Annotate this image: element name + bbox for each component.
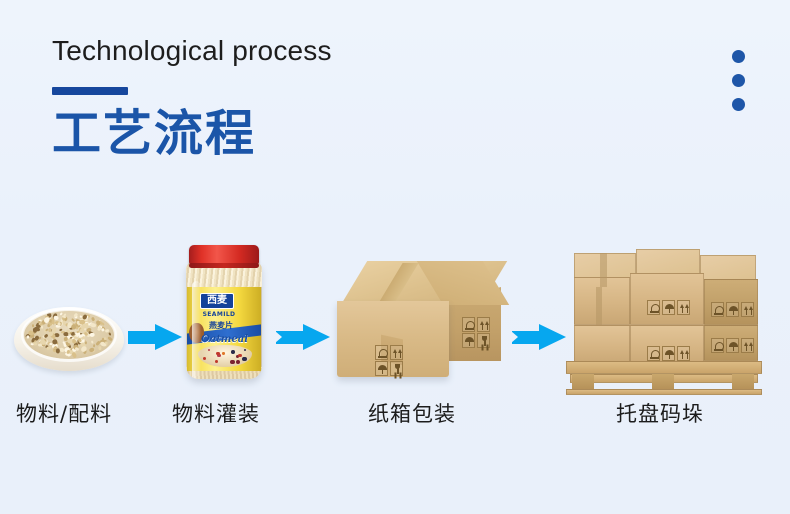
umbrella-keep-dry-icon	[726, 302, 739, 317]
label-bowl-photo	[198, 345, 252, 367]
this-side-up-icon	[677, 346, 690, 361]
jar-label: 西麦 SEAMILD 燕麦片 Oatmeal	[187, 287, 261, 371]
product-name-cn: 燕麦片	[195, 320, 247, 331]
pallet-box	[574, 325, 630, 365]
this-side-up-icon	[741, 302, 754, 317]
brand-badge-cn: 西麦	[200, 293, 234, 309]
chinese-title: 工艺流程	[52, 107, 332, 162]
caption-cartoning: 纸箱包装	[368, 398, 456, 428]
umbrella-keep-dry-icon	[375, 361, 388, 376]
pallet-box	[704, 279, 758, 325]
step-visual-cartoning	[332, 261, 512, 389]
dot-icon	[732, 98, 745, 111]
arrow-head-icon	[539, 324, 566, 350]
bowl-rim	[21, 308, 117, 362]
arrow-head-icon	[155, 324, 182, 350]
english-title: Technological process	[52, 36, 332, 67]
carton-side-icons-row2	[460, 331, 492, 350]
pallet-box-icons	[709, 336, 756, 355]
fragile-glass-icon	[711, 302, 724, 317]
pallet-deck-top	[566, 361, 762, 374]
fragile-glass-icon	[375, 345, 388, 360]
flow-arrow-3	[512, 324, 566, 350]
this-side-up-icon	[741, 338, 754, 353]
fragile-glass-icon	[647, 346, 660, 361]
pallet-box	[630, 273, 704, 325]
flow-captions: 物料/配料 物料灌装 纸箱包装 托盘码垛	[0, 398, 790, 440]
title-rule-divider	[52, 87, 128, 95]
dot-icon	[732, 50, 745, 63]
step-visual-palletize	[566, 247, 766, 395]
jar-cap-icon	[189, 245, 259, 265]
decorative-dots	[732, 50, 745, 111]
arrow-head-icon	[303, 324, 330, 350]
caption-palletize: 托盘码垛	[616, 398, 704, 428]
this-side-up-icon	[477, 317, 490, 332]
arrow-notch	[275, 331, 282, 343]
step-visual-filling: 西麦 SEAMILD 燕麦片 Oatmeal	[182, 243, 266, 383]
carton-front-face	[337, 301, 449, 377]
umbrella-keep-dry-icon	[662, 300, 675, 315]
handle-with-care-icon	[390, 361, 403, 376]
page-header: Technological process 工艺流程	[52, 36, 332, 162]
handle-with-care-icon	[477, 333, 490, 348]
step-visual-material	[14, 301, 124, 377]
brand-name-en: SEAMILD	[196, 311, 242, 318]
pallet-box	[704, 325, 758, 361]
product-name-en: Oatmeal	[201, 334, 248, 345]
fragile-glass-icon	[647, 300, 660, 315]
umbrella-keep-dry-icon	[462, 333, 475, 348]
box-tape	[600, 253, 607, 287]
pallet-box-icons	[709, 300, 756, 319]
box-tape	[596, 287, 602, 325]
oatmeal-jar-icon: 西麦 SEAMILD 燕麦片 Oatmeal	[186, 261, 262, 379]
caption-filling: 物料灌装	[172, 398, 260, 428]
flow-arrow-1	[128, 324, 182, 350]
this-side-up-icon	[390, 345, 403, 360]
fragile-glass-icon	[711, 338, 724, 353]
umbrella-keep-dry-icon	[662, 346, 675, 361]
carton-shipping-icons-row2	[373, 359, 405, 378]
process-flow-diagram: 西麦 SEAMILD 燕麦片 Oatmeal	[0, 215, 790, 395]
caption-material: 物料/配料	[16, 398, 112, 428]
bowl-icon	[14, 307, 124, 371]
umbrella-keep-dry-icon	[726, 338, 739, 353]
fragile-glass-icon	[462, 317, 475, 332]
dot-icon	[732, 74, 745, 87]
pallet-deck-bottom	[566, 389, 762, 395]
pallet-box-icons	[645, 298, 692, 317]
flow-arrow-2	[276, 324, 330, 350]
arrow-notch	[511, 331, 518, 343]
this-side-up-icon	[677, 300, 690, 315]
